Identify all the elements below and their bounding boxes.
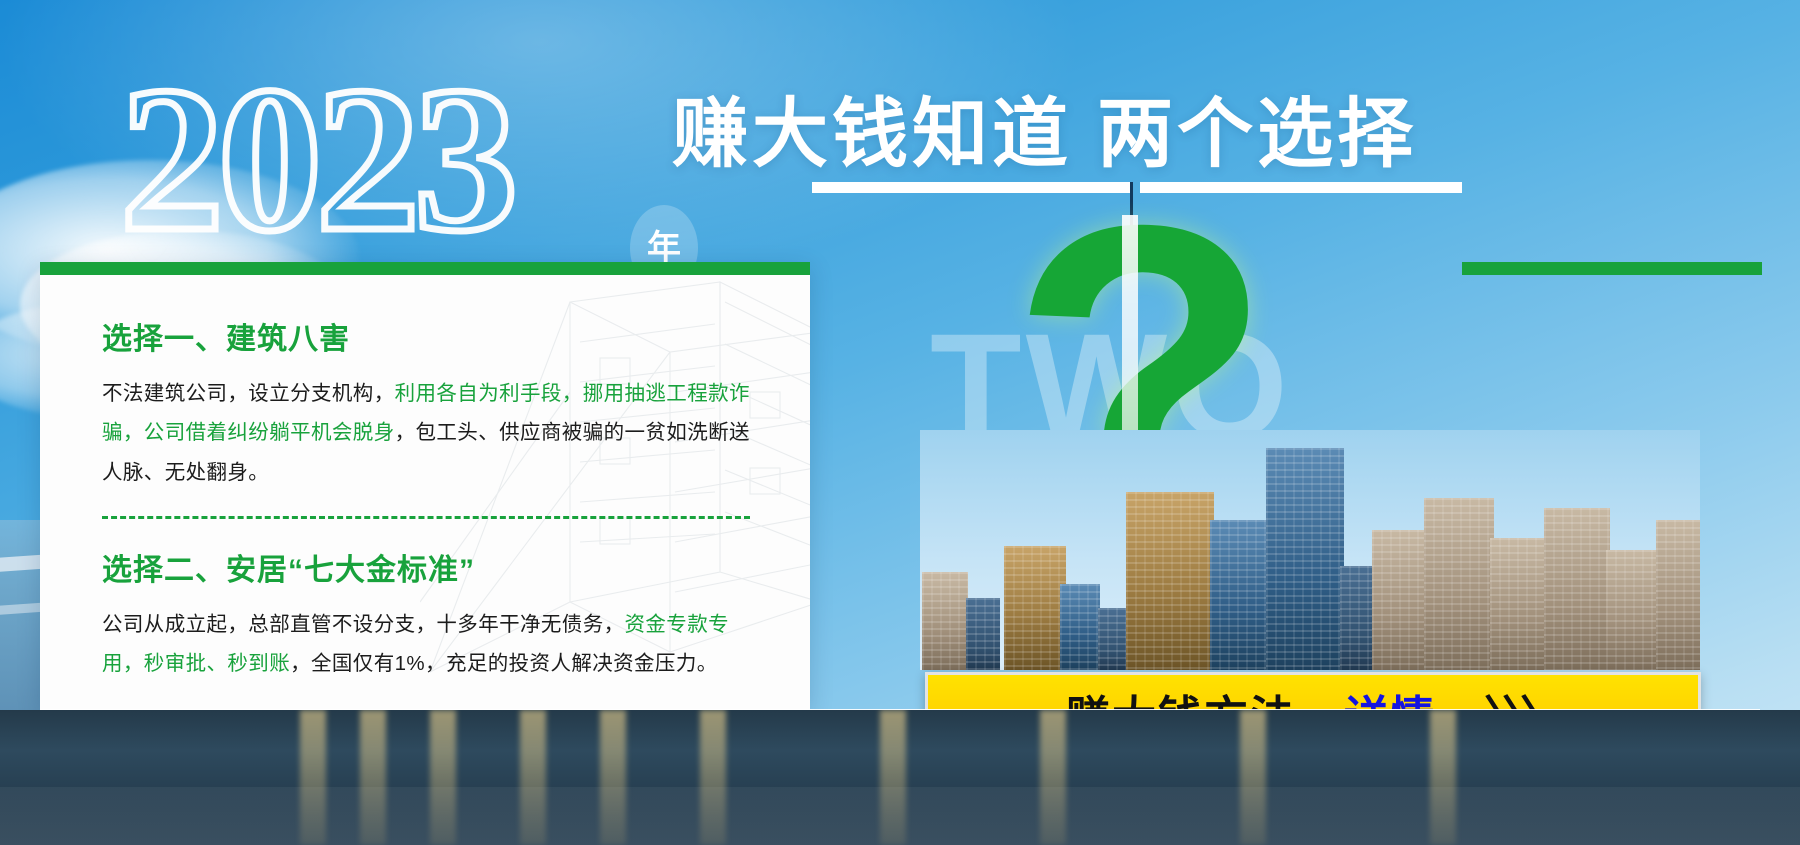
content-card: 选择一、建筑八害 不法建筑公司，设立分支机构，利用各自为利手段，挪用抽逃工程款诈…: [40, 262, 810, 710]
section-divider: [102, 516, 750, 519]
section-body-1: 不法建筑公司，设立分支机构，利用各自为利手段，挪用抽逃工程款诈骗，公司借着纠纷躺…: [102, 374, 750, 492]
building: [966, 598, 1000, 670]
building: [1266, 448, 1344, 670]
section-title-2: 选择二、安居“七大金标准”: [102, 545, 750, 589]
bottom-photo-strip: [0, 710, 1800, 845]
poster-root: 2023 年 赚大钱知道 两个选择 TWO CHOICES ? 赚大钱方法 详情…: [0, 0, 1800, 845]
body-part: ，全国仅有1%，充足的投资人解决资金压力。: [290, 652, 718, 675]
water-reflection: [0, 787, 1800, 845]
body-part: 不法建筑公司，设立分支机构，: [102, 382, 395, 405]
body-part: 公司从成立起，总部直管不设分支，十多年干净无债务，: [102, 613, 625, 636]
building: [1126, 492, 1214, 670]
building: [1544, 508, 1610, 670]
building: [1340, 566, 1376, 670]
building: [1060, 584, 1100, 670]
building: [1372, 530, 1428, 670]
section-title-1: 选择一、建筑八害: [102, 314, 750, 358]
city-photo: [920, 430, 1700, 670]
building: [1210, 520, 1270, 670]
building: [1424, 498, 1494, 670]
building: [1606, 550, 1660, 670]
building: [1004, 546, 1066, 670]
building: [1490, 538, 1548, 670]
building: [922, 572, 968, 670]
building: [1098, 608, 1128, 670]
section-body-2: 公司从成立起，总部直管不设分支，十多年干净无债务，资金专款专用，秒审批、秒到账，…: [102, 605, 750, 684]
building: [1656, 520, 1700, 670]
right-green-bar: [1462, 262, 1762, 275]
card-inner: 选择一、建筑八害 不法建筑公司，设立分支机构，利用各自为利手段，挪用抽逃工程款诈…: [40, 262, 810, 684]
